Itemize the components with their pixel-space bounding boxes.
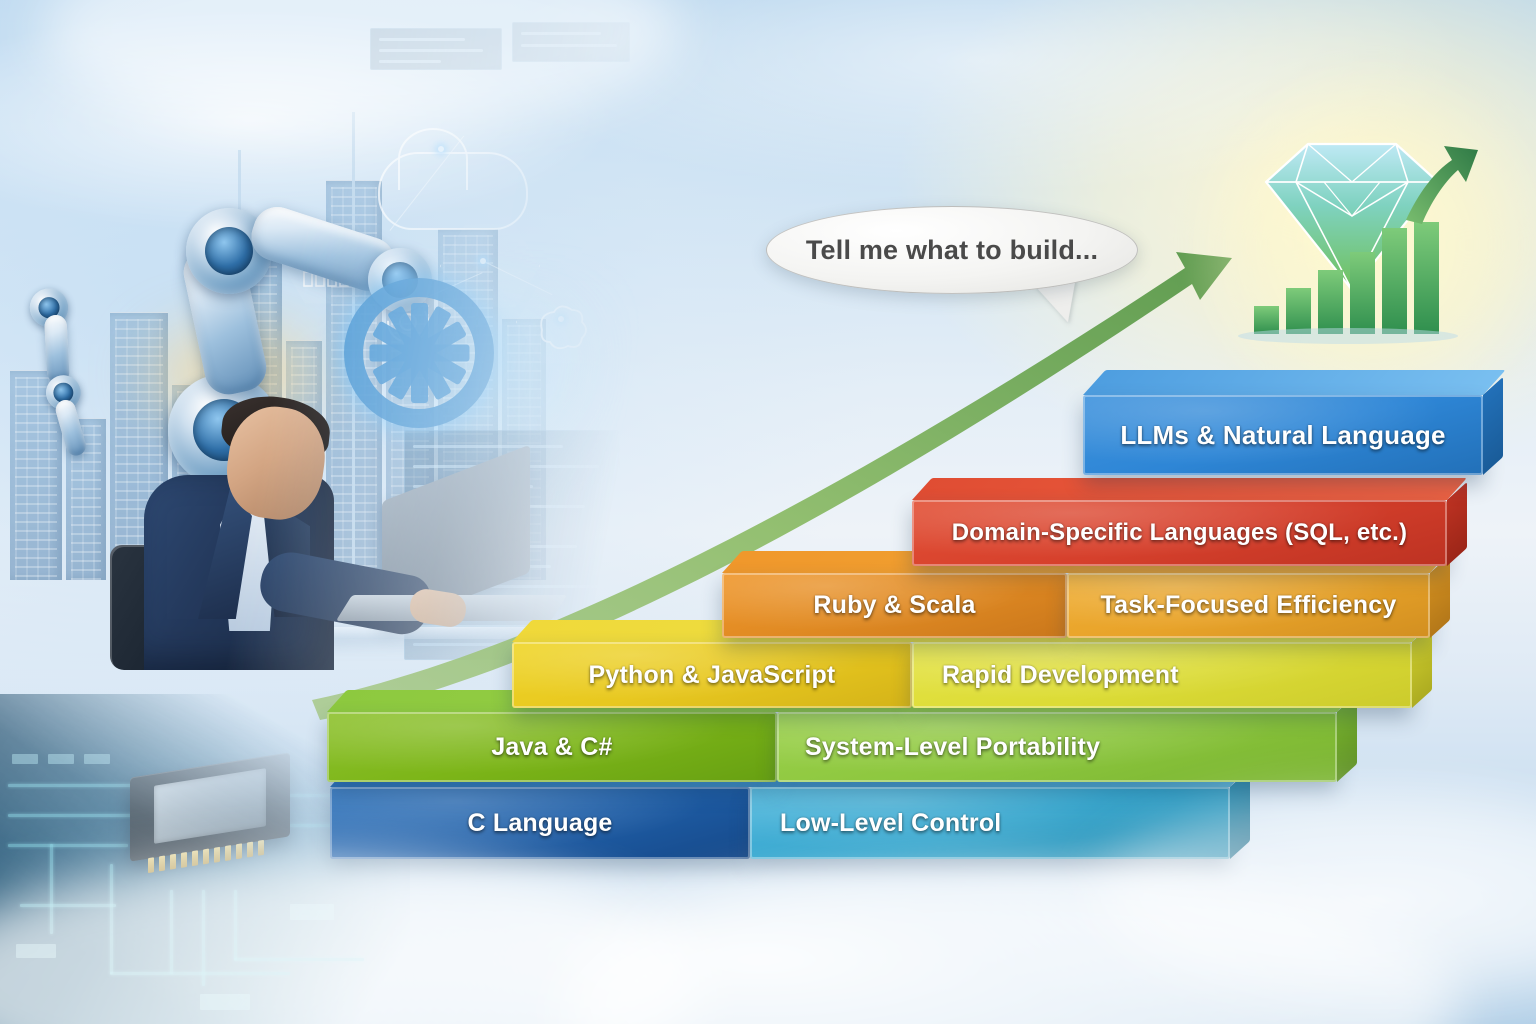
- left-tech-collage: [0, 0, 640, 700]
- laptop-screen: [382, 445, 530, 630]
- step-3[interactable]: Python & JavaScript Rapid Development: [512, 642, 1412, 708]
- office-chair: [110, 545, 168, 670]
- step-2-left-label: Java & C#: [327, 733, 777, 762]
- step-6-face[interactable]: LLMs & Natural Language: [1083, 395, 1483, 475]
- suit-lapel-right: [262, 491, 310, 617]
- step-4-right-label: Task-Focused Efficiency: [1067, 591, 1430, 620]
- laptop-keyboard: [336, 595, 567, 621]
- step-1-right-label: Low-Level Control: [750, 809, 1230, 838]
- cloud-icon: [378, 152, 528, 230]
- head: [221, 401, 332, 525]
- tech-hex-network: [270, 110, 600, 410]
- hex-bar-chart-icon: [302, 246, 360, 288]
- step-5[interactable]: Domain-Specific Languages (SQL, etc.): [912, 500, 1447, 566]
- suit-torso: [144, 475, 334, 670]
- refresh-cycle-icon: [380, 296, 436, 348]
- code-pane: [370, 28, 502, 70]
- step-5-label: Domain-Specific Languages (SQL, etc.): [952, 519, 1407, 547]
- step-1-left-label: C Language: [330, 809, 750, 838]
- suit-lapel-left: [198, 487, 252, 619]
- step-5-top: [912, 478, 1467, 500]
- step-4-right-face[interactable]: Task-Focused Efficiency: [1067, 573, 1430, 638]
- cpu-chip: [130, 752, 290, 861]
- cloud-foreground: [560, 864, 1460, 1024]
- speech-bubble: Tell me what to build...: [766, 206, 1138, 294]
- dress-shirt: [220, 491, 278, 631]
- hand: [408, 587, 469, 629]
- step-1-right-face[interactable]: Low-Level Control: [750, 787, 1230, 859]
- arm: [256, 547, 434, 638]
- gem-growth-graphic: [1238, 120, 1508, 350]
- businessman-typing: [110, 395, 470, 670]
- step-3-left-face[interactable]: Python & JavaScript: [512, 642, 912, 708]
- step-3-right-label: Rapid Development: [912, 661, 1412, 690]
- step-2-right-label: System-Level Portability: [777, 733, 1337, 762]
- step-6[interactable]: LLMs & Natural Language: [1083, 395, 1483, 475]
- step-2[interactable]: Java & C# System-Level Portability: [327, 712, 1337, 782]
- city-glow: [150, 330, 320, 420]
- ai-brain-icon: [532, 300, 590, 352]
- step-4[interactable]: Ruby & Scala Task-Focused Efficiency: [722, 573, 1430, 638]
- robot-arm: [60, 190, 530, 490]
- gear-icon: [344, 278, 494, 428]
- step-2-left-face[interactable]: Java & C#: [327, 712, 777, 782]
- speech-bubble-text: Tell me what to build...: [806, 235, 1098, 266]
- step-4-left-face[interactable]: Ruby & Scala: [722, 573, 1067, 638]
- step-1[interactable]: C Language Low-Level Control: [330, 787, 1230, 859]
- robot-arm-secondary: [10, 274, 124, 418]
- step-1-left-face[interactable]: C Language: [330, 787, 750, 859]
- tech-glow: [420, 300, 640, 450]
- cityscape: [0, 60, 560, 580]
- step-5-face[interactable]: Domain-Specific Languages (SQL, etc.): [912, 500, 1447, 566]
- illustration-canvas: Tell me what to build... C Language Low-…: [0, 0, 1536, 1024]
- step-3-right-face[interactable]: Rapid Development: [912, 642, 1412, 708]
- step-2-right-face[interactable]: System-Level Portability: [777, 712, 1337, 782]
- step-6-label: LLMs & Natural Language: [1120, 420, 1445, 451]
- code-pane: [512, 22, 630, 62]
- cloud-top: [40, 0, 680, 130]
- step-6-top: [1083, 370, 1506, 395]
- step-4-left-label: Ruby & Scala: [722, 591, 1067, 620]
- hair: [219, 392, 333, 465]
- step-3-left-label: Python & JavaScript: [512, 661, 912, 690]
